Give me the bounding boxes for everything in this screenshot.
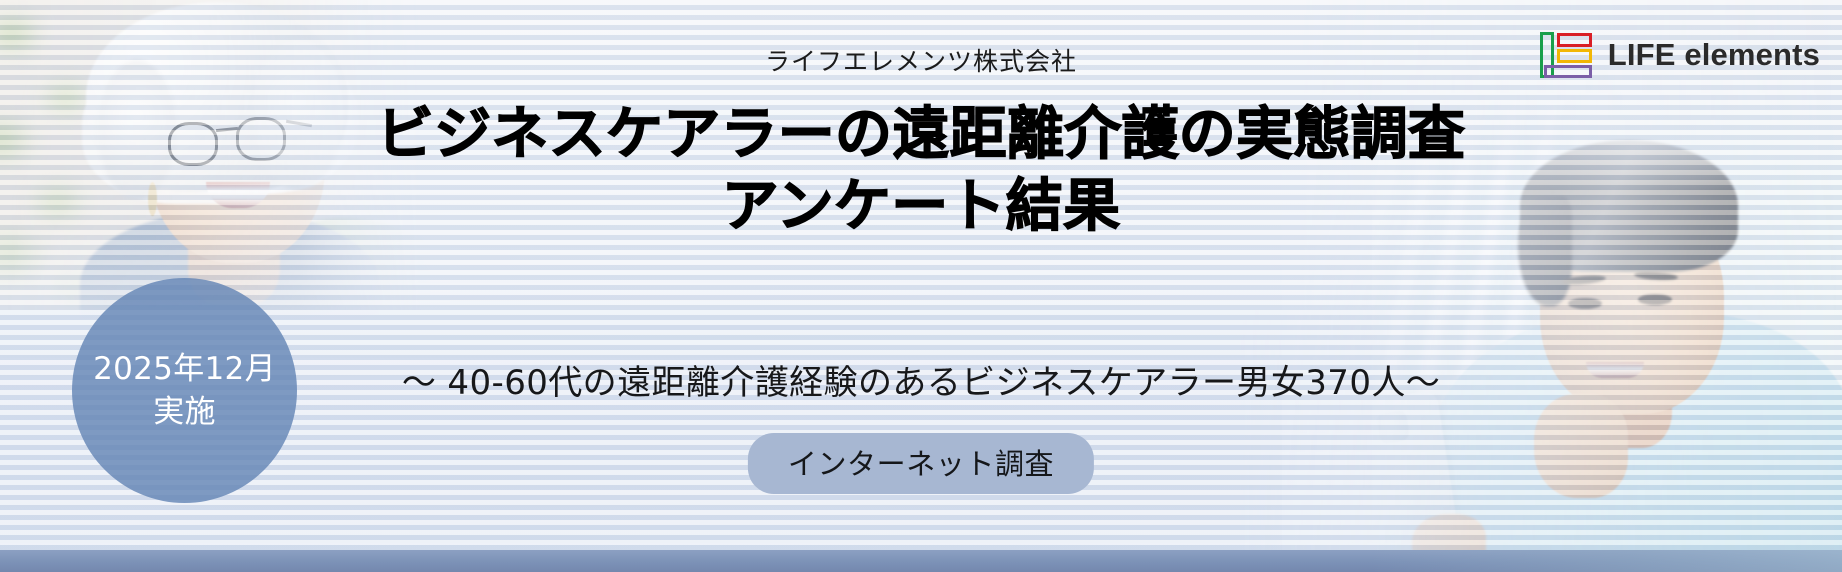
- survey-date-line-1: 2025年12月: [93, 349, 276, 389]
- survey-result-banner: ライフエレメンツ株式会社 ビジネスケアラーの遠距離介護の実態調査 アンケート結果…: [0, 0, 1842, 572]
- survey-date-circle: 2025年12月 実施: [72, 278, 297, 503]
- survey-method-badge: インターネット調査: [748, 433, 1094, 494]
- brand-logo-text: LIFE elements: [1608, 37, 1820, 73]
- banner-title-line-2: アンケート結果: [0, 170, 1842, 242]
- life-elements-logo-mark: [1538, 30, 1594, 80]
- bottom-accent-bar-fade: [1372, 550, 1842, 572]
- banner-title-line-1: ビジネスケアラーの遠距離介護の実態調査: [0, 98, 1842, 170]
- banner-content: ライフエレメンツ株式会社 ビジネスケアラーの遠距離介護の実態調査 アンケート結果…: [0, 0, 1842, 572]
- banner-title: ビジネスケアラーの遠距離介護の実態調査 アンケート結果: [0, 98, 1842, 243]
- brand-logo[interactable]: LIFE elements: [1538, 30, 1820, 80]
- survey-date-line-2: 実施: [153, 392, 216, 432]
